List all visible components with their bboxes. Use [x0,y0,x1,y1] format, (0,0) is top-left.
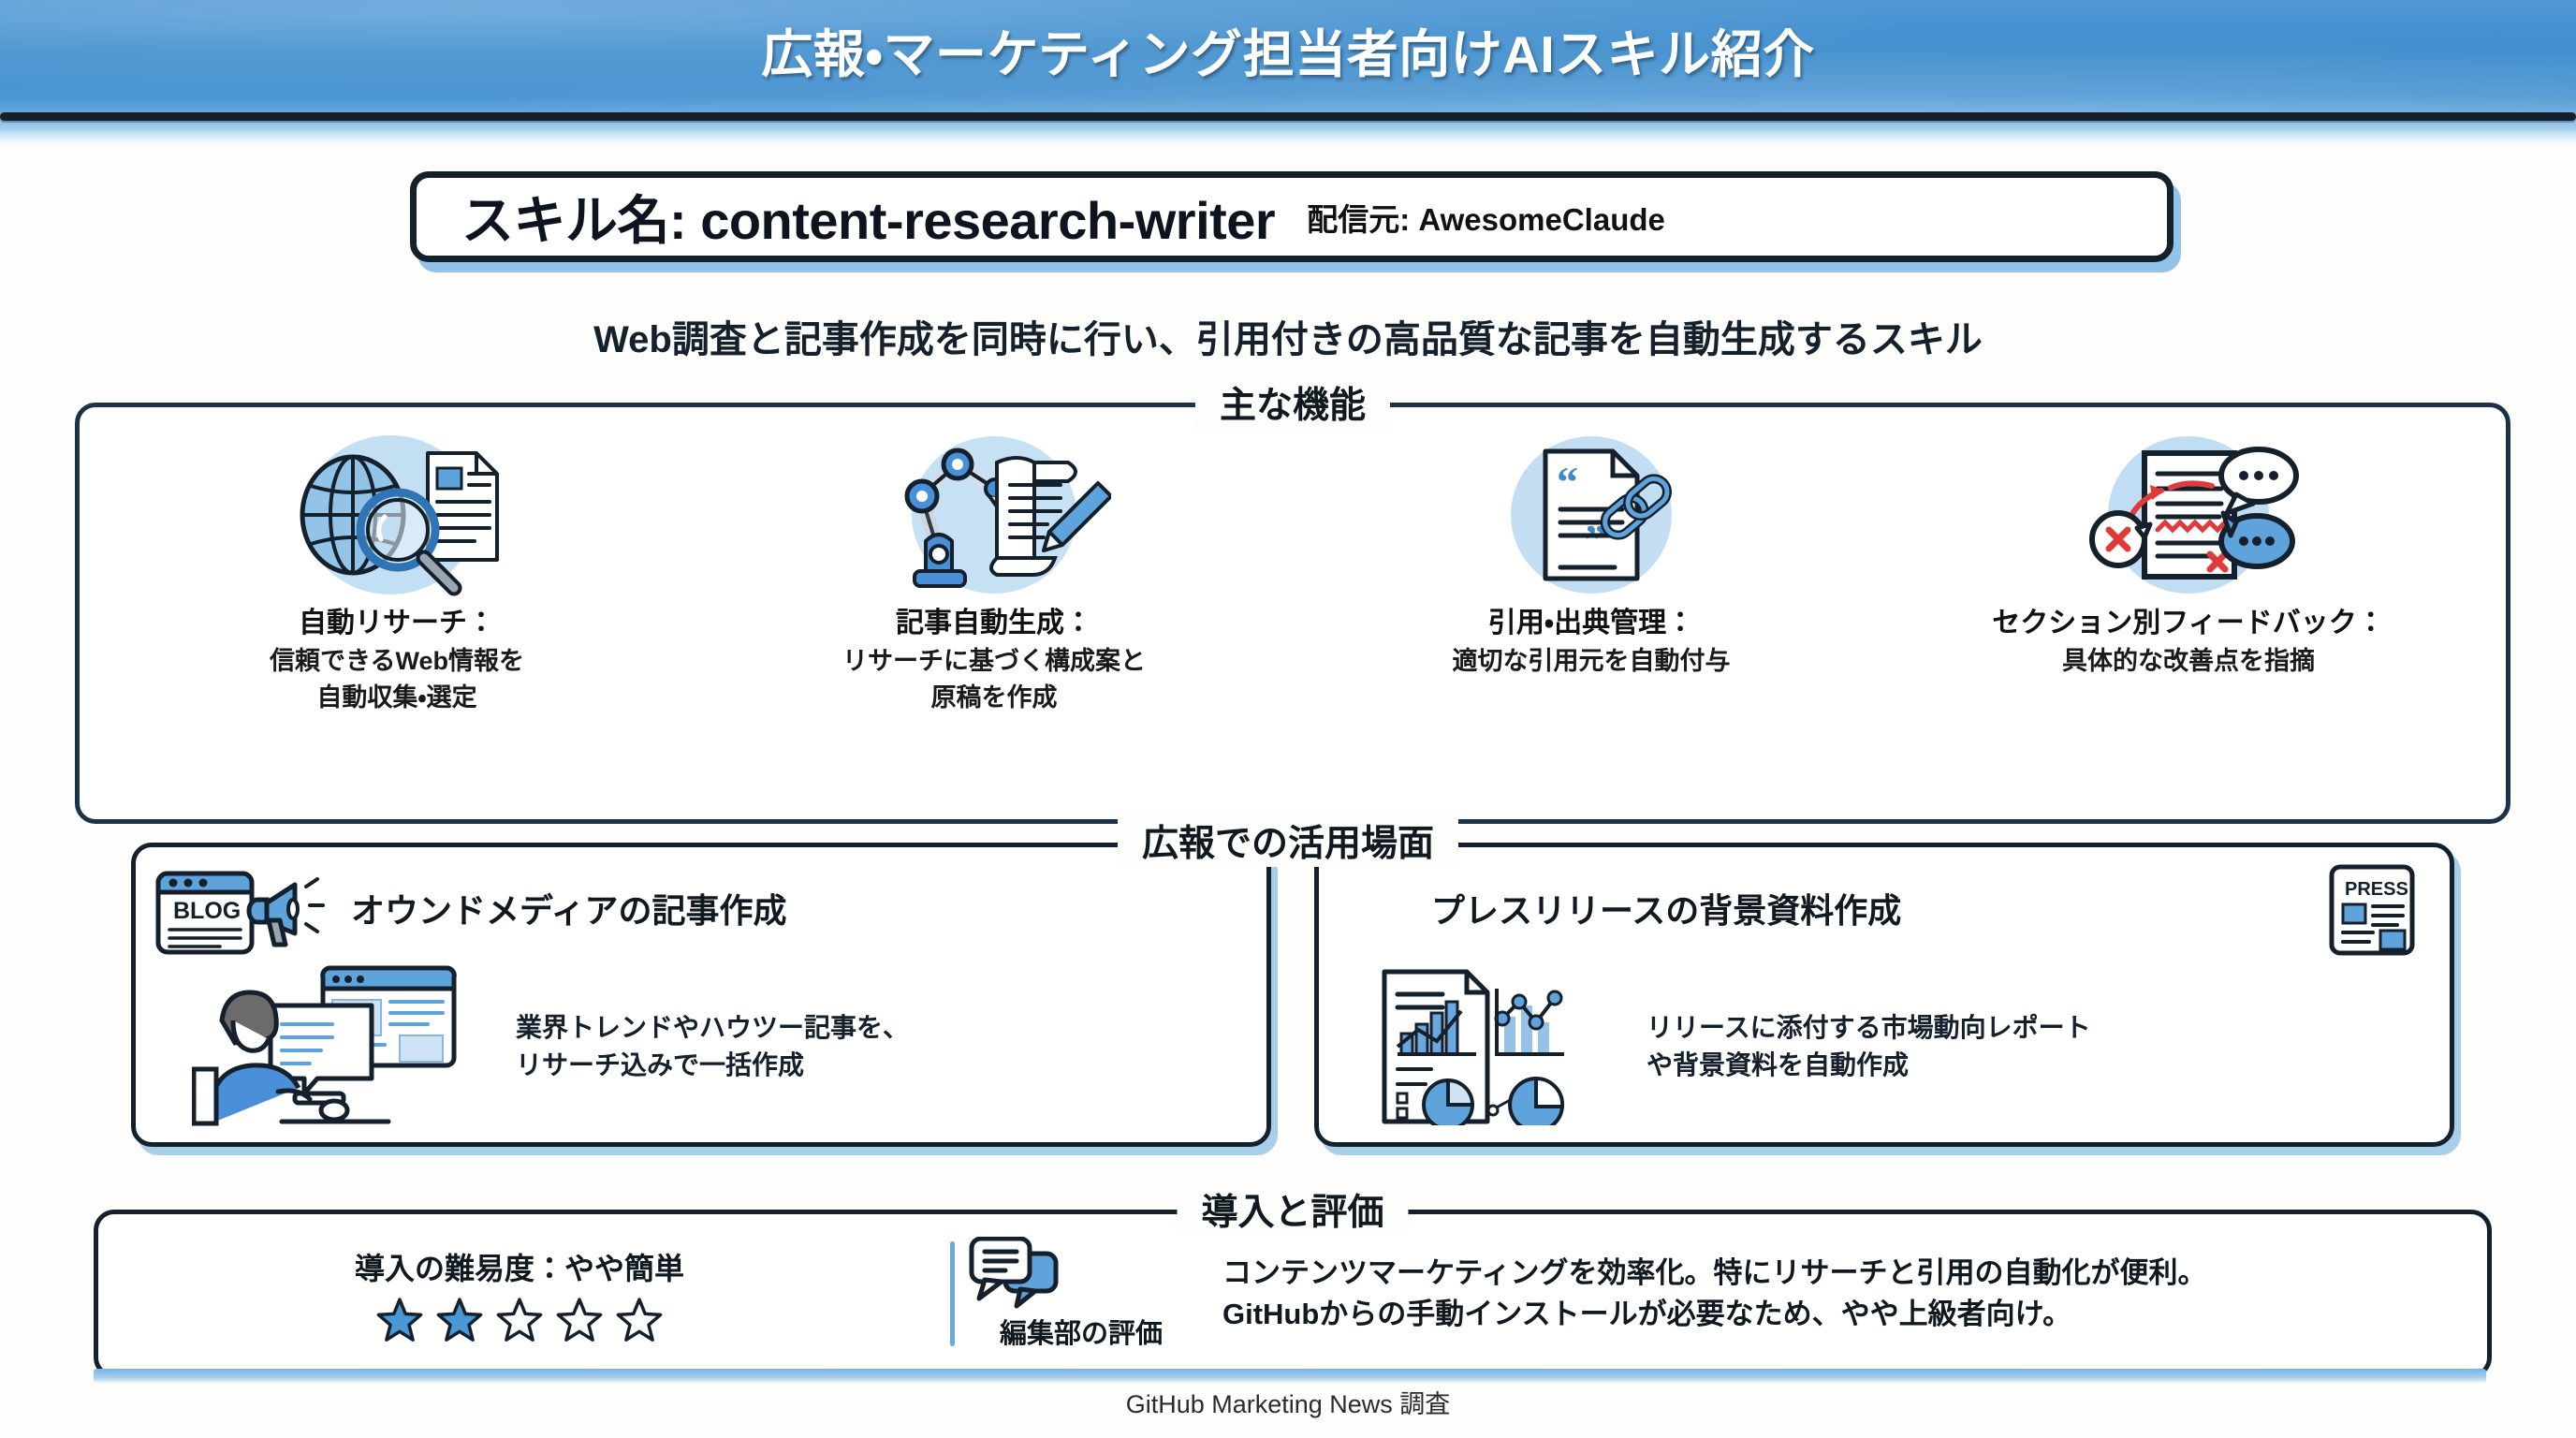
feature-title: 記事自動生成： [713,606,1275,641]
usecase-right-title: プレスリリースの背景資料作成 [1431,893,1901,929]
vertical-divider [950,1241,955,1346]
person-at-computer-icon [192,964,491,1128]
feature-item: “ ” [1310,430,1872,678]
skill-publisher: 配信元: AwesomeClaude [1307,195,1665,240]
robot-arm-scroll-pencil-icon [713,430,1275,600]
document-review-speech-bubble-icon [1908,430,2469,600]
press-newspaper-icon: PRESS [2324,859,2427,962]
feature-title: セクション別フィードバック： [1908,606,2469,641]
usecase-left-text: 業界トレンドやハウツー記事を、 リサーチ込みで一括作成 [516,1009,909,1084]
report-charts-icon [1371,968,1624,1125]
feature-desc-line2: 原稿を作成 [713,682,1275,714]
bottom-blue-underline [94,1369,2486,1384]
feature-desc-line2: 自動収集・選定 [116,682,678,714]
skill-subtitle: Web調査と記事作成を同時に行い、引用付きの高品質な記事を自動生成するスキル [0,309,2576,363]
star-empty-icon [496,1298,543,1343]
svg-text:BLOG: BLOG [173,898,241,924]
editor-comment-line1: コンテンツマーケティングを効率化。特にリサーチと引用の自動化が便利。 [1222,1253,2487,1294]
svg-text:PRESS: PRESS [2345,879,2408,900]
feature-desc-line1: 具体的な改善点を指摘 [1908,645,2469,678]
usecases-legend: 広報での活用場面 [1118,814,1458,867]
usecase-right-text: リリースに添付する市場動向レポート や背景資料を自動作成 [1647,1009,2091,1084]
feature-title: 引用・出典管理： [1310,606,1872,641]
adoption-panel: 導入と評価 導入の難易度：やや簡単 [94,1210,2492,1378]
usecase-right-text-line1: リリースに添付する市場動向レポート [1647,1009,2091,1047]
feature-item: 自動リサーチ： 信頼できるWeb情報を 自動収集・選定 [116,430,678,715]
editor-label: 編集部の評価 [964,1312,1198,1351]
star-empty-icon [556,1298,603,1343]
editor-comment-line2: GitHubからの手動インストールが必要なため、やや上級者向け。 [1222,1294,2487,1335]
skill-title-card: スキル名: content-research-writer 配信元: Aweso… [410,171,2173,262]
rating-stars [98,1298,941,1343]
feature-item: セクション別フィードバック： 具体的な改善点を指摘 [1908,430,2469,678]
feature-title: 自動リサーチ： [116,606,678,641]
feature-desc-line1: 適切な引用元を自動付与 [1310,645,1872,678]
difficulty-label: 導入の難易度：やや簡単 [98,1245,941,1288]
feature-desc-line1: リサーチに基づく構成案と [713,645,1275,678]
footer-source: GitHub Marketing News 調査 [0,1384,2576,1420]
header-banner: 広報・マーケティング担当者向けAIスキル紹介 [0,0,2576,123]
skill-name: スキル名: content-research-writer [461,179,1275,255]
banner-rule [0,112,2576,121]
feature-item: 記事自動生成： リサーチに基づく構成案と 原稿を作成 [713,430,1275,715]
difficulty-block: 導入の難易度：やや簡単 [98,1245,941,1343]
banner-title: 広報・マーケティング担当者向けAIスキル紹介 [0,12,2576,87]
svg-text:“: “ [1557,458,1578,506]
usecase-left-title: オウンドメディアの記事作成 [351,893,786,929]
usecase-left-text-line2: リサーチ込みで一括作成 [516,1047,909,1084]
usecase-right-text-line2: や背景資料を自動作成 [1647,1047,2091,1084]
feature-desc-line1: 信頼できるWeb情報を [116,645,678,678]
quote-document-link-icon: “ ” [1310,430,1872,600]
usecase-left-text-line1: 業界トレンドやハウツー記事を、 [516,1009,909,1047]
features-panel: 主な機能 [75,403,2510,824]
star-filled-icon [376,1298,423,1343]
blog-window-megaphone-icon: BLOG [153,864,330,958]
editor-comment: コンテンツマーケティングを効率化。特にリサーチと引用の自動化が便利。 GitHu… [1198,1253,2487,1335]
globe-magnifier-document-icon [116,430,678,600]
usecase-right-panel: プレスリリースの背景資料作成 PRESS [1314,843,2454,1147]
speech-bubble-lines-icon [964,1237,1198,1310]
star-empty-icon [616,1298,663,1343]
star-filled-icon [436,1298,483,1343]
infographic-page: 広報・マーケティング担当者向けAIスキル紹介 スキル名: content-res… [0,0,2576,1438]
usecase-left-panel: BLOG オウンドメディアの記事作成 [131,843,1271,1147]
editor-rating-block: 編集部の評価 [964,1237,1198,1351]
